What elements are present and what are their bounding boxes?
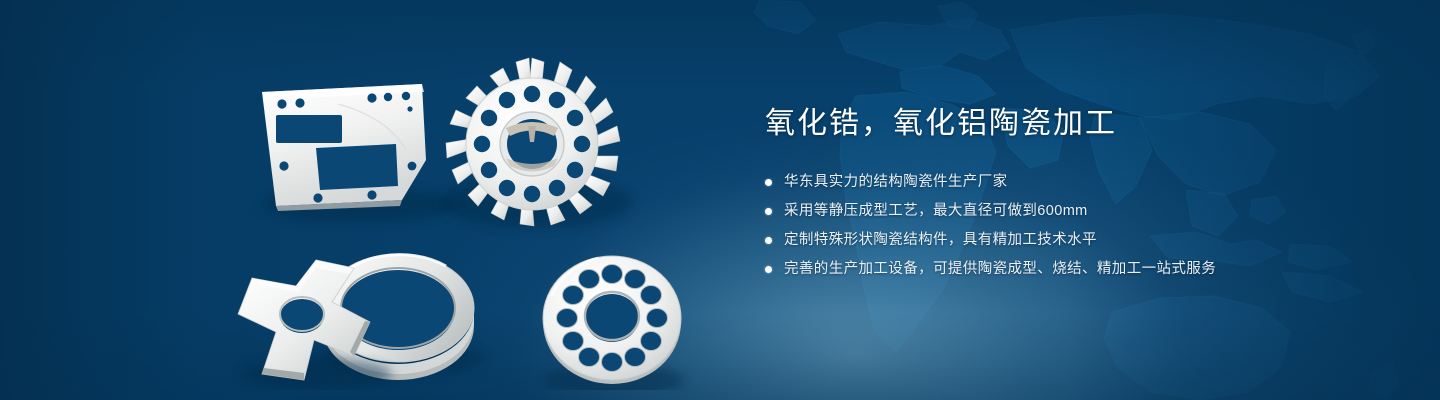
- feature-item-1: 华东具实力的结构陶瓷件生产厂家: [765, 172, 1385, 192]
- feature-item-2: 采用等静压成型工艺，最大直径可做到600mm: [765, 201, 1385, 221]
- bullet-dot-icon: [765, 266, 772, 273]
- ceramic-products-image: [220, 30, 740, 390]
- ceramic-machined-plate: [262, 84, 458, 223]
- feature-text-1: 华东具实力的结构陶瓷件生产厂家: [784, 172, 1008, 192]
- feature-text-3: 定制特殊形状陶瓷结构件，具有精加工技术水平: [784, 230, 1097, 250]
- bullet-dot-icon: [765, 237, 772, 244]
- banner-feature-list: 华东具实力的结构陶瓷件生产厂家 采用等静压成型工艺，最大直径可做到600mm 定…: [765, 172, 1385, 279]
- ceramic-vaned-impeller: [440, 58, 632, 228]
- banner-copy: 氧化锆，氧化铝陶瓷加工 华东具实力的结构陶瓷件生产厂家 采用等静压成型工艺，最大…: [765, 104, 1385, 279]
- hero-banner: 氧化锆，氧化铝陶瓷加工 华东具实力的结构陶瓷件生产厂家 采用等静压成型工艺，最大…: [0, 0, 1440, 400]
- bullet-dot-icon: [765, 179, 772, 186]
- feature-item-4: 完善的生产加工设备，可提供陶瓷成型、烧结、精加工一站式服务: [765, 259, 1385, 279]
- feature-text-4: 完善的生产加工设备，可提供陶瓷成型、烧结、精加工一站式服务: [784, 259, 1216, 279]
- banner-headline: 氧化锆，氧化铝陶瓷加工: [765, 104, 1385, 144]
- bullet-dot-icon: [765, 208, 772, 215]
- feature-item-3: 定制特殊形状陶瓷结构件，具有精加工技术水平: [765, 230, 1385, 250]
- ceramic-perforated-disc: [543, 256, 684, 390]
- feature-text-2: 采用等静压成型工艺，最大直径可做到600mm: [784, 201, 1088, 221]
